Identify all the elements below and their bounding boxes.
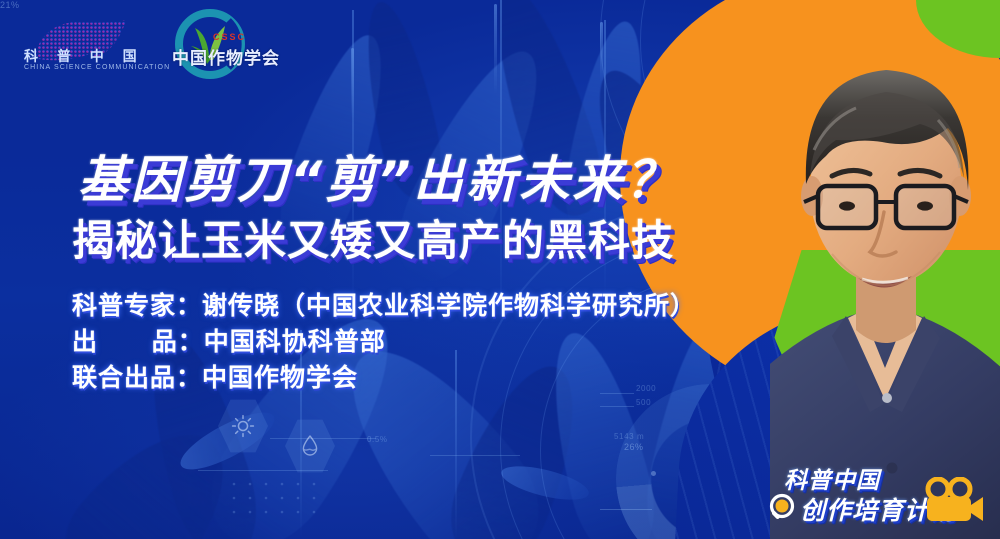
credit-producer-tail: 品： (152, 327, 204, 356)
credit-line-producer: 出品：中国科协科普部 (72, 324, 696, 360)
hex-badge-water (285, 418, 335, 474)
micro-label-05: 0.5% (367, 435, 388, 444)
donut-label-26: 26% (624, 442, 644, 452)
credit-producer-prefix: 出 (72, 327, 98, 356)
micro-label-500: 500 (636, 398, 651, 407)
badge-line1: 科普中国 (784, 461, 880, 495)
page-subtitle: 揭秘让玉米又矮又高产的黑科技 (72, 207, 674, 268)
decor-tick (430, 455, 520, 456)
cssc-abbrev-label: CSSC (213, 32, 246, 42)
magnifier-icon (768, 493, 798, 525)
donut-leader-line (600, 509, 652, 510)
kpzg-english-label: CHINA SCIENCE COMMUNICATION (24, 64, 170, 71)
poster-canvas: 21% 26% 45% 2000 500 5143 m 0.5% 1200 (0, 0, 1000, 539)
film-camera-icon (922, 477, 984, 525)
credits-block: 科普专家：谢传晓（中国农业科学院作物科学研究所） 出品：中国科协科普部 联合出品… (72, 288, 696, 396)
program-badge: 科普中国 创作培育计划 (762, 457, 990, 533)
decor-tick (600, 406, 634, 407)
micro-label-5143: 5143 m (614, 432, 644, 441)
hex-badge-sun (218, 398, 268, 454)
cssc-chinese-label: 中国作物学会 (172, 44, 280, 69)
kpzg-chinese-label: 科 普 中 国 (24, 46, 144, 66)
sun-icon (230, 413, 256, 439)
credit-line-coproducer: 联合出品：中国作物学会 (72, 360, 696, 396)
credit-line-expert: 科普专家：谢传晓（中国农业科学院作物科学研究所） (72, 288, 696, 324)
decor-dot-grid (230, 480, 350, 520)
page-title: 基因剪刀“剪”出新未来？ (78, 140, 678, 212)
water-drop-icon (298, 433, 322, 459)
donut-label-21: 21% (0, 0, 20, 10)
credit-producer-body: 中国科协科普部 (204, 327, 386, 356)
donut-node (651, 471, 656, 476)
